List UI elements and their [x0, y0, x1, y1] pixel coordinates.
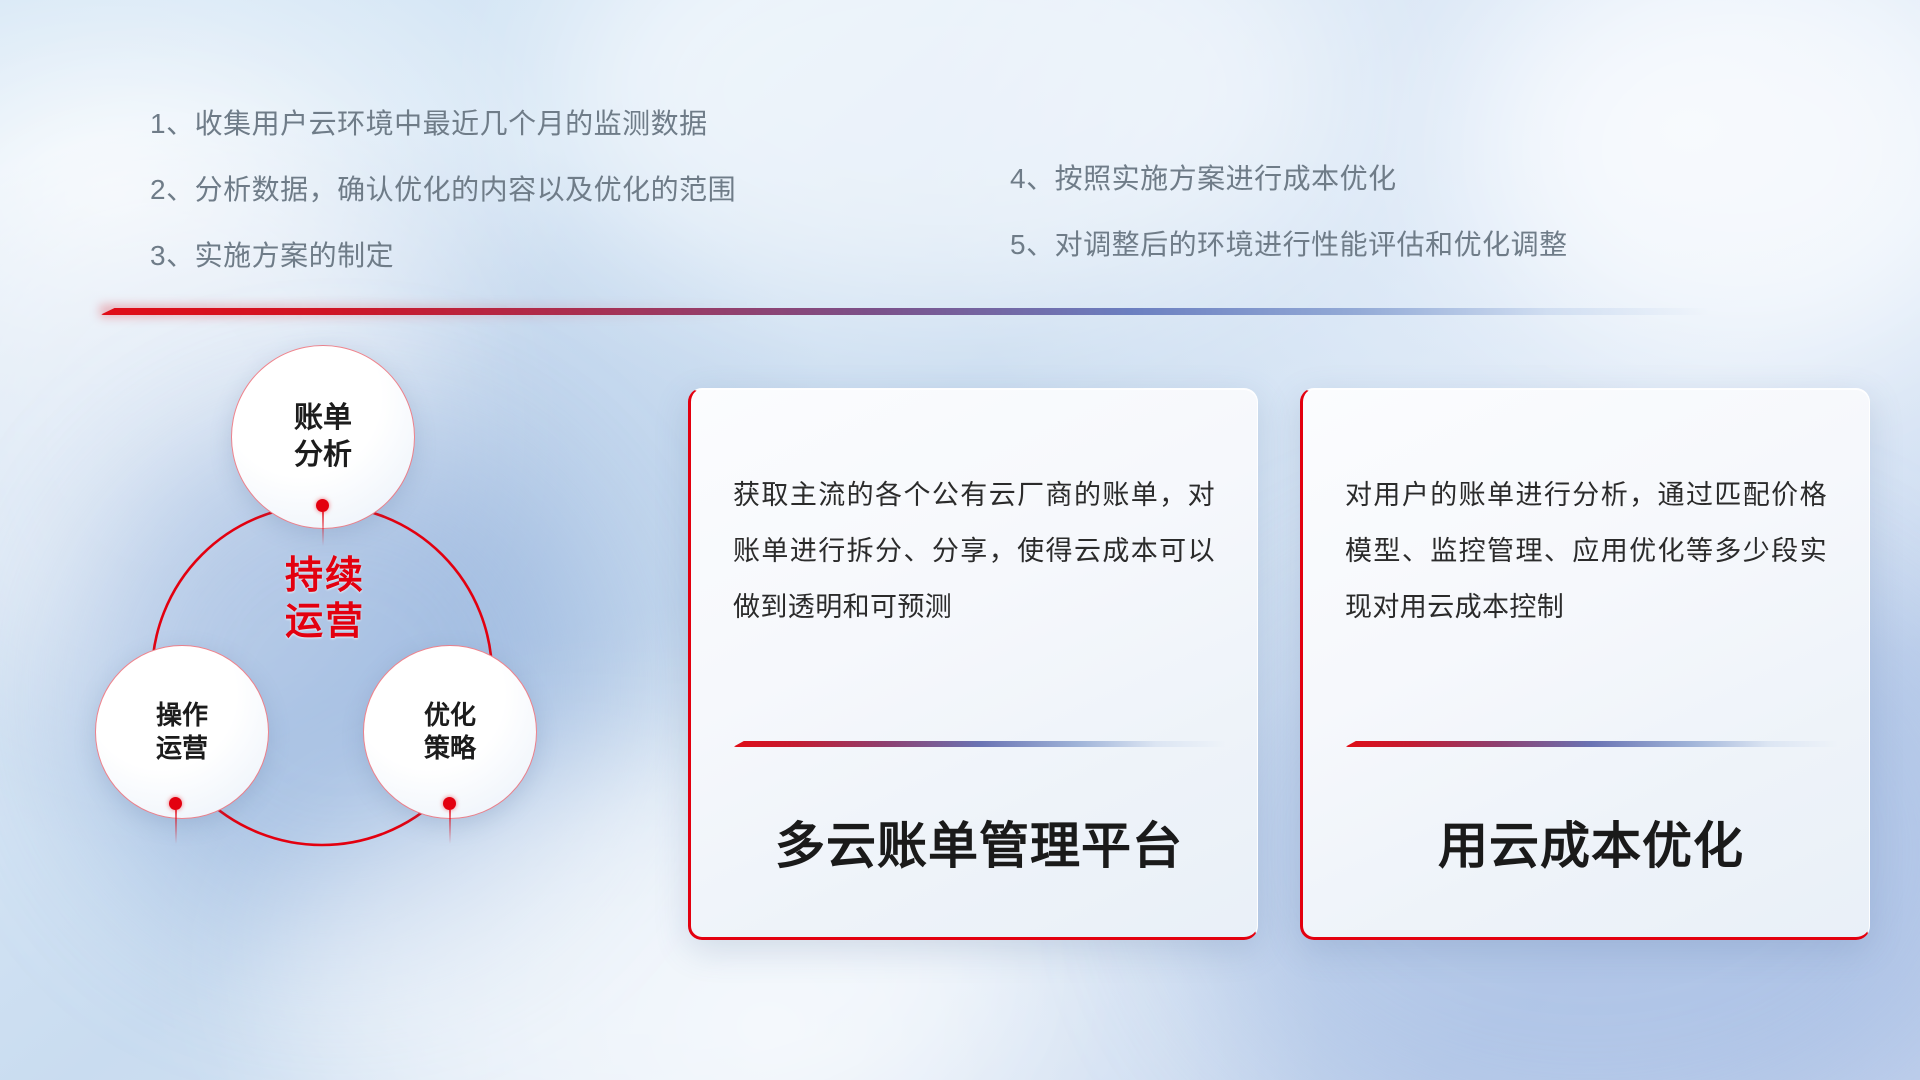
feature-card-cloud-cost-optimization[interactable]: 对用户的账单进行分析，通过匹配价格模型、监控管理、应用优化等多少段实现对用云成本… — [1300, 388, 1870, 940]
bubble-optimization-strategy[interactable]: 优化 策略 — [363, 645, 537, 819]
section-divider — [100, 308, 1710, 315]
bubble-label-line1: 账单 — [294, 400, 352, 437]
cycle-center-label-line1: 持续 — [245, 553, 405, 599]
card-divider — [1345, 741, 1837, 747]
step-item: 1、收集用户云环境中最近几个月的监测数据 — [150, 110, 1010, 138]
node-dot-left — [169, 797, 182, 810]
node-dot-right — [443, 797, 456, 810]
node-dot-top — [316, 499, 329, 512]
bubble-operations[interactable]: 操作 运营 — [95, 645, 269, 819]
card-divider — [733, 741, 1225, 747]
bubble-label-line2: 运营 — [156, 732, 208, 765]
step-item: 2、分析数据，确认优化的内容以及优化的范围 — [150, 176, 1010, 204]
steps-column-left: 1、收集用户云环境中最近几个月的监测数据 2、分析数据，确认优化的内容以及优化的… — [150, 110, 1010, 308]
cycle-center-label-line2: 运营 — [245, 599, 405, 645]
card-description: 获取主流的各个公有云厂商的账单，对账单进行拆分、分享，使得云成本可以做到透明和可… — [733, 467, 1215, 635]
cycle-center-label: 持续 运营 — [245, 553, 405, 646]
step-item: 4、按照实施方案进行成本优化 — [1010, 165, 1850, 193]
bubble-label-line2: 分析 — [294, 437, 352, 474]
bubble-label-line1: 操作 — [156, 699, 208, 732]
bubble-label-line2: 策略 — [424, 732, 476, 765]
steps-list: 1、收集用户云环境中最近几个月的监测数据 2、分析数据，确认优化的内容以及优化的… — [150, 110, 1850, 308]
slide-root: 1、收集用户云环境中最近几个月的监测数据 2、分析数据，确认优化的内容以及优化的… — [0, 0, 1920, 1080]
step-item: 5、对调整后的环境进行性能评估和优化调整 — [1010, 231, 1850, 259]
card-title: 多云账单管理平台 — [733, 819, 1225, 874]
card-description: 对用户的账单进行分析，通过匹配价格模型、监控管理、应用优化等多少段实现对用云成本… — [1345, 467, 1827, 635]
node-tail-top — [322, 512, 324, 546]
cycle-diagram: 账单 分析 操作 运营 优化 策略 持续 运营 — [95, 345, 675, 965]
feature-card-multicloud-billing[interactable]: 获取主流的各个公有云厂商的账单，对账单进行拆分、分享，使得云成本可以做到透明和可… — [688, 388, 1258, 940]
bubble-label-line1: 优化 — [424, 699, 476, 732]
step-item: 3、实施方案的制定 — [150, 242, 1010, 270]
node-tail-left — [175, 810, 177, 844]
node-tail-right — [449, 810, 451, 844]
card-title: 用云成本优化 — [1345, 819, 1837, 874]
steps-column-right: 4、按照实施方案进行成本优化 5、对调整后的环境进行性能评估和优化调整 — [1010, 110, 1850, 308]
